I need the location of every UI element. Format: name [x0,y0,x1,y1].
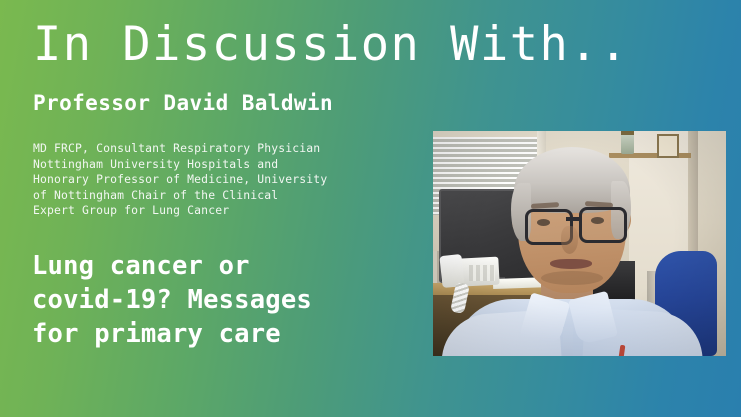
headline-line: for primary care [32,317,432,351]
headline-line: covid-19? Messages [32,283,432,317]
headline-line: Lung cancer or [32,249,432,283]
speaker-credentials: MD FRCP, Consultant Respiratory Physicia… [33,141,433,219]
text-column: In Discussion With.. Professor David Bal… [0,0,440,417]
speaker-photo [433,131,726,356]
photo-vignette [433,131,726,356]
presentation-slide: In Discussion With.. Professor David Bal… [0,0,741,417]
credential-line: MD FRCP, Consultant Respiratory Physicia… [33,141,433,157]
talk-headline: Lung cancer or covid-19? Messages for pr… [32,249,432,351]
credential-line: Nottingham University Hospitals and [33,157,433,173]
page-title: In Discussion With.. [33,16,629,74]
speaker-name: Professor David Baldwin [33,90,333,116]
credential-line: of Nottingham Chair of the Clinical [33,188,433,204]
credential-line: Expert Group for Lung Cancer [33,203,433,219]
credential-line: Honorary Professor of Medicine, Universi… [33,172,433,188]
